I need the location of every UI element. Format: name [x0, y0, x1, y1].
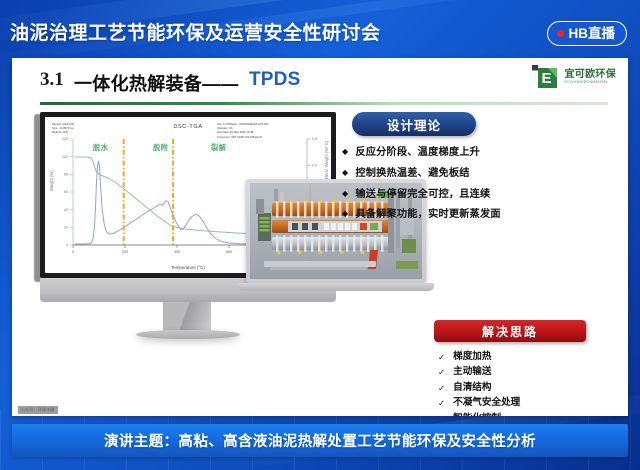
- list-item: ✓ 不凝气安全处理: [438, 397, 622, 409]
- live-badge-label: HB直播: [569, 27, 616, 41]
- list-item-label: 具备解聚功能，实时更新蒸发面: [355, 208, 500, 222]
- diamond-bullet-icon: ◆: [342, 208, 348, 221]
- monitor-stand-base: [136, 330, 240, 339]
- check-mark-icon: ✓: [438, 352, 445, 363]
- svg-text:200: 200: [122, 250, 128, 254]
- solution-ideas-heading-label: 解决思路: [482, 323, 538, 340]
- slide-title-chinese: 一体化热解装备——: [74, 70, 239, 96]
- list-item: ✓ 智能化控制: [438, 413, 622, 416]
- logo-mark-icon: E: [531, 64, 561, 90]
- diamond-bullet-icon: ◆: [342, 188, 348, 201]
- check-mark-icon: ✓: [438, 414, 445, 416]
- check-mark-icon: ✓: [438, 398, 445, 409]
- slide-title-row: 3.1 一体化热解装备—— TPDS E 宜可欧环保 ECO ENVIRONME…: [12, 58, 628, 106]
- slide-viewer-root: 油泥治理工艺节能环保及运营安全性研讨会 HB直播 3.1 一体化热解装备—— T…: [0, 0, 640, 470]
- list-item-label: 梯度加热: [453, 351, 491, 363]
- check-mark-icon: ✓: [438, 383, 445, 394]
- svg-text:400: 400: [174, 250, 180, 254]
- live-dot-icon: [557, 30, 564, 37]
- svg-text:80: 80: [64, 173, 68, 177]
- list-item-label: 输送与停留完全可控，且连续: [355, 188, 490, 202]
- design-theory-list: ◆ 反应分阶段、温度梯度上升 ◆ 控制换热温差、避免板结 ◆ 输送与停留完全可控…: [342, 146, 622, 222]
- design-theory-heading-label: 设计理论: [387, 115, 441, 134]
- design-theory-heading: 设计理论: [352, 112, 476, 136]
- list-item: ◆ 具备解聚功能，实时更新蒸发面: [342, 208, 622, 222]
- list-item-label: 自清结构: [453, 382, 491, 394]
- svg-text:120: 120: [62, 137, 68, 141]
- diamond-bullet-icon: ◆: [342, 167, 348, 180]
- list-item-label: 控制换热温差、避免板结: [355, 167, 469, 181]
- list-item: ✓ 自清结构: [438, 382, 622, 394]
- check-mark-icon: ✓: [438, 367, 445, 378]
- logo-text-chinese: 宜可欧环保: [565, 70, 617, 81]
- solution-ideas-list: ✓ 梯度加热 ✓ 主动输送 ✓ 自清结构 ✓ 不凝气安全处理 ✓ 智能化控制: [438, 351, 622, 416]
- chart-y-axis-right-label: Deriv. Weight (%/°C): [324, 141, 329, 179]
- svg-text:0: 0: [66, 243, 68, 247]
- svg-text:E: E: [541, 70, 551, 87]
- svg-text:600: 600: [226, 250, 232, 254]
- svg-text:40: 40: [64, 208, 68, 212]
- svg-text:0: 0: [72, 250, 74, 254]
- list-item: ✓ 主动输送: [438, 366, 622, 378]
- logo-text-english: ECO ENVIRONMENTAL: [565, 80, 617, 84]
- slide-watermark: 公众号：环保水圈: [18, 406, 58, 414]
- svg-text:60: 60: [64, 190, 68, 194]
- list-item-label: 智能化控制: [453, 413, 501, 416]
- panel-solution-ideas: 解决思路 ✓ 梯度加热 ✓ 主动输送 ✓ 自清结构 ✓ 不凝气安全处理: [410, 320, 622, 416]
- list-item-label: 主动输送: [453, 366, 491, 378]
- chart-title: DSC-TGA: [45, 124, 331, 130]
- bottom-banner-text: 演讲主题：高粘、高含液油泥热解处置工艺节能环保及安全性分析: [104, 430, 536, 451]
- slide-canvas: 3.1 一体化热解装备—— TPDS E 宜可欧环保 ECO ENVIRONME…: [12, 58, 628, 416]
- list-item-label: 不凝气安全处理: [453, 397, 520, 409]
- svg-text:0.8: 0.8: [312, 137, 317, 141]
- svg-text:20: 20: [64, 226, 68, 230]
- list-item-label: 反应分阶段、温度梯度上升: [355, 146, 480, 160]
- list-item: ◆ 反应分阶段、温度梯度上升: [342, 146, 622, 160]
- diamond-bullet-icon: ◆: [342, 146, 348, 159]
- list-item: ◆ 输送与停留完全可控，且连续: [342, 188, 622, 202]
- panel-design-theory: 设计理论 ◆ 反应分阶段、温度梯度上升 ◆ 控制换热温差、避免板结 ◆ 输送与停…: [342, 112, 622, 229]
- list-item: ✓ 梯度加热: [438, 351, 622, 363]
- top-header-bar: 油泥治理工艺节能环保及运营安全性研讨会 HB直播: [0, 0, 640, 58]
- logo-text-block: 宜可欧环保 ECO ENVIRONMENTAL: [565, 70, 617, 85]
- title-underline-rule: [40, 102, 608, 105]
- svg-text:0.6: 0.6: [312, 164, 317, 168]
- slide-title-english: TPDS: [249, 69, 300, 91]
- live-stream-badge[interactable]: HB直播: [547, 21, 628, 46]
- solution-ideas-heading: 解决思路: [434, 320, 586, 342]
- svg-text:100: 100: [62, 155, 68, 159]
- list-item: ◆ 控制换热温差、避免板结: [342, 167, 622, 181]
- header-title: 油泥治理工艺节能环保及运营安全性研讨会: [10, 18, 381, 45]
- chart-y-axis-left-label: Weight (%): [49, 170, 54, 191]
- bottom-banner: 演讲主题：高粘、高含液油泥热解处置工艺节能环保及安全性分析: [12, 424, 628, 457]
- brand-logo: E 宜可欧环保 ECO ENVIRONMENTAL: [531, 64, 617, 90]
- slide-number: 3.1: [40, 69, 64, 91]
- laptop-base: [238, 283, 434, 291]
- monitor-stand-neck: [163, 302, 211, 332]
